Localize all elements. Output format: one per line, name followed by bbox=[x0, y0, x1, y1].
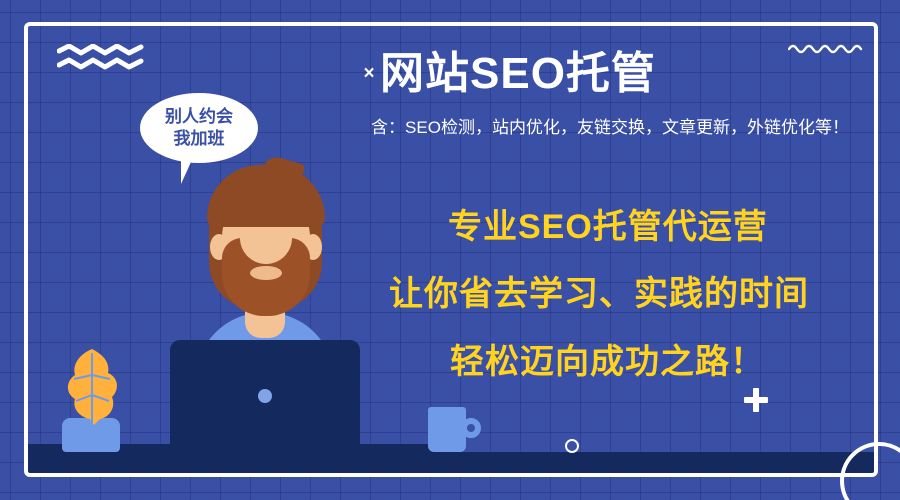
person-mouth bbox=[250, 266, 282, 280]
slogan-line-3: 轻松迈向成功之路！ bbox=[450, 334, 765, 383]
plant-leaf-icon bbox=[60, 347, 124, 427]
desk-surface bbox=[28, 452, 874, 474]
plus-icon bbox=[744, 388, 768, 412]
close-icon[interactable]: × bbox=[358, 63, 380, 85]
wavy-lines-icon bbox=[57, 44, 145, 70]
speech-bubble-text: 别人约会 我加班 bbox=[140, 93, 258, 163]
page-title: 网站SEO托管 bbox=[380, 48, 656, 100]
seo-promo-banner: × 网站SEO托管 含：SEO检测，站内优化，友链交换，文章更新，外链优化等！ … bbox=[0, 0, 900, 500]
wavy-line-icon bbox=[788, 42, 864, 56]
speech-bubble-line-2: 我加班 bbox=[174, 128, 225, 150]
coffee-mug-handle bbox=[461, 418, 481, 438]
laptop-logo-dot bbox=[258, 389, 272, 403]
speech-bubble: 别人约会 我加班 bbox=[140, 93, 258, 163]
slogan-line-1: 专业SEO托管代运营 bbox=[448, 199, 768, 248]
slogan-line-2: 让你省去学习、实践的时间 bbox=[389, 266, 809, 315]
speech-bubble-line-1: 别人约会 bbox=[165, 106, 233, 128]
page-subtitle: 含：SEO检测，站内优化，友链交换，文章更新，外链优化等！ bbox=[340, 117, 880, 139]
